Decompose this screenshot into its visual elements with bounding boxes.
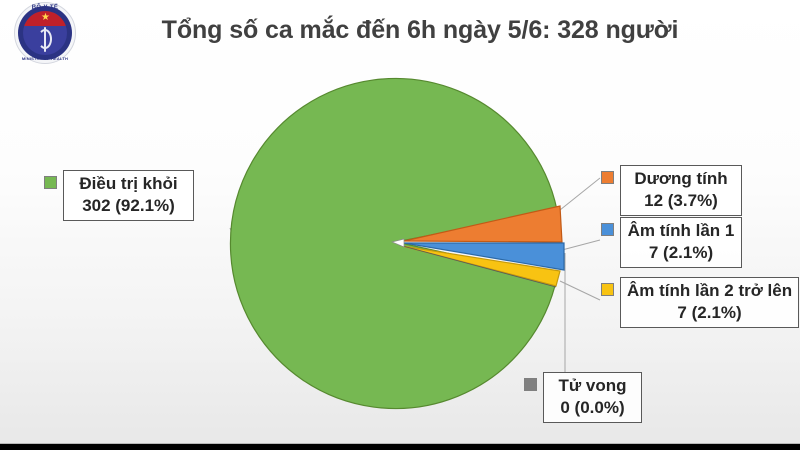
callout-positive[interactable]: Dương tính 12 (3.7%): [601, 165, 742, 216]
callout-death[interactable]: Tử vong 0 (0.0%): [524, 372, 642, 423]
callout-negative-1-label: Âm tính lần 1: [628, 221, 735, 240]
legend-swatch-negative-2: [601, 283, 614, 296]
callout-positive-label: Dương tính: [634, 169, 727, 188]
leader-line-pos: [560, 178, 600, 210]
leader-line-neg1: [562, 240, 600, 250]
leader-line-neg2: [560, 281, 600, 300]
callout-box-negative-1: Âm tính lần 1 7 (2.1%): [620, 217, 742, 268]
callout-box-death: Tử vong 0 (0.0%): [543, 372, 642, 423]
callout-negative-2-value: 7 (2.1%): [627, 302, 792, 324]
slide-canvas: ★ BỘ Y TẾ MINISTRY OF HEALTH Tổng số ca …: [0, 0, 800, 450]
callout-positive-value: 12 (3.7%): [627, 190, 735, 212]
callout-negative-1[interactable]: Âm tính lần 1 7 (2.1%): [601, 217, 742, 268]
legend-swatch-positive: [601, 171, 614, 184]
callout-death-label: Tử vong: [558, 376, 626, 395]
callout-cured[interactable]: Điều trị khỏi 302 (92.1%): [44, 170, 194, 221]
callout-cured-label: Điều trị khỏi: [79, 174, 177, 193]
callout-negative-1-value: 7 (2.1%): [627, 242, 735, 264]
legend-swatch-negative-1: [601, 223, 614, 236]
callout-box-negative-2: Âm tính lần 2 trở lên 7 (2.1%): [620, 277, 799, 328]
callout-cured-value: 302 (92.1%): [70, 195, 187, 217]
callout-death-value: 0 (0.0%): [550, 397, 635, 419]
bottom-letterbox-bar: [0, 444, 800, 450]
callout-negative-2-label: Âm tính lần 2 trở lên: [627, 281, 792, 300]
callout-box-positive: Dương tính 12 (3.7%): [620, 165, 742, 216]
legend-swatch-cured: [44, 176, 57, 189]
callout-box-cured: Điều trị khỏi 302 (92.1%): [63, 170, 194, 221]
legend-swatch-death: [524, 378, 537, 391]
callout-negative-2[interactable]: Âm tính lần 2 trở lên 7 (2.1%): [601, 277, 799, 328]
